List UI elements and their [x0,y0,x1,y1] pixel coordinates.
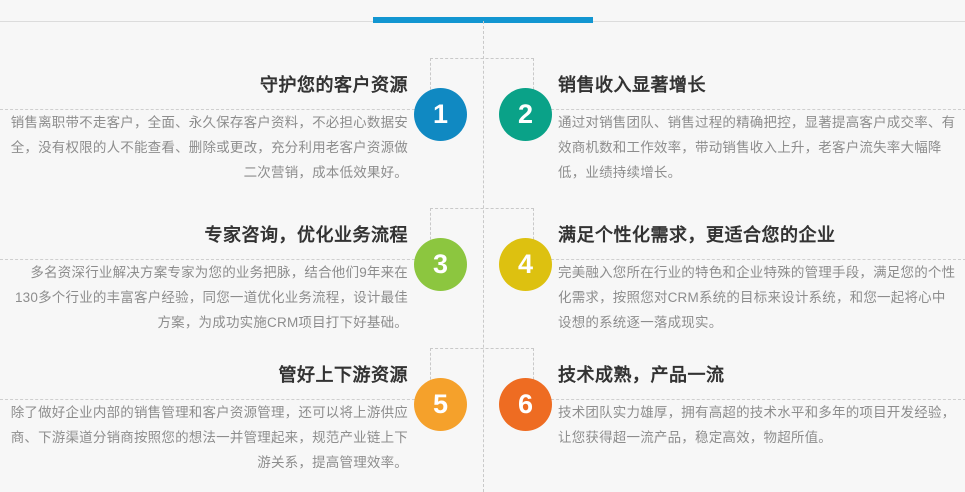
feature-description-5: 除了做好企业内部的销售管理和客户资源管理，还可以将上游供应商、下游渠道分销商按照… [8,400,408,475]
feature-description-4: 完美融入您所在行业的特色和企业特殊的管理手段，满足您的个性化需求，按照您对CRM… [558,260,958,335]
feature-card-2: 销售收入显著增长 通过对销售团队、销售过程的精确把控，显著提高客户成交率、有效商… [483,72,965,222]
feature-card-1: 守护您的客户资源 销售离职带不走客户，全面、永久保存客户资料，不必担心数据安全，… [0,72,483,222]
feature-card-3: 专家咨询，优化业务流程 多名资深行业解决方案专家为您的业务把脉，结合他们9年来在… [0,222,483,362]
feature-title-3: 专家咨询，优化业务流程 [8,222,408,248]
feature-divider-5 [0,399,425,400]
feature-divider-2 [541,109,965,110]
feature-description-1: 销售离职带不走客户，全面、永久保存客户资料，不必担心数据安全，没有权限的人不能查… [8,110,408,185]
feature-card-4: 满足个性化需求，更适合您的企业 完美融入您所在行业的特色和企业特殊的管理手段，满… [483,222,965,362]
feature-divider-1 [0,109,425,110]
feature-title-5: 管好上下游资源 [8,362,408,388]
feature-content-4: 满足个性化需求，更适合您的企业 完美融入您所在行业的特色和企业特殊的管理手段，满… [483,222,965,335]
feature-number-badge-4: 4 [499,238,552,291]
feature-title-2: 销售收入显著增长 [558,72,958,98]
feature-content-6: 技术成熟，产品一流 技术团队实力雄厚，拥有高超的技术水平和多年的项目开发经验，让… [483,362,965,450]
feature-number-badge-3: 3 [414,238,467,291]
feature-title-1: 守护您的客户资源 [8,72,408,98]
feature-divider-3 [0,259,425,260]
feature-divider-4 [541,259,965,260]
feature-content-5: 管好上下游资源 除了做好企业内部的销售管理和客户资源管理，还可以将上游供应商、下… [0,362,483,475]
feature-number-badge-5: 5 [414,378,467,431]
feature-content-2: 销售收入显著增长 通过对销售团队、销售过程的精确把控，显著提高客户成交率、有效商… [483,72,965,185]
feature-title-4: 满足个性化需求，更适合您的企业 [558,222,958,248]
feature-number-badge-1: 1 [414,88,467,141]
feature-number-badge-2: 2 [499,88,552,141]
feature-description-2: 通过对销售团队、销售过程的精确把控，显著提高客户成交率、有效商机数和工作效率，带… [558,110,958,185]
features-grid: 守护您的客户资源 销售离职带不走客户，全面、永久保存客户资料，不必担心数据安全，… [0,21,965,492]
feature-description-3: 多名资深行业解决方案专家为您的业务把脉，结合他们9年来在130多个行业的丰富客户… [8,260,408,335]
feature-divider-6 [541,399,965,400]
feature-content-3: 专家咨询，优化业务流程 多名资深行业解决方案专家为您的业务把脉，结合他们9年来在… [0,222,483,335]
feature-number-badge-6: 6 [499,378,552,431]
feature-description-6: 技术团队实力雄厚，拥有高超的技术水平和多年的项目开发经验，让您获得超一流产品，稳… [558,400,958,450]
feature-row-2: 专家咨询，优化业务流程 多名资深行业解决方案专家为您的业务把脉，结合他们9年来在… [0,222,965,362]
feature-title-6: 技术成熟，产品一流 [558,362,958,388]
feature-row-1: 守护您的客户资源 销售离职带不走客户，全面、永久保存客户资料，不必担心数据安全，… [0,72,965,222]
feature-row-3: 管好上下游资源 除了做好企业内部的销售管理和客户资源管理，还可以将上游供应商、下… [0,362,965,492]
feature-card-5: 管好上下游资源 除了做好企业内部的销售管理和客户资源管理，还可以将上游供应商、下… [0,362,483,492]
feature-card-6: 技术成熟，产品一流 技术团队实力雄厚，拥有高超的技术水平和多年的项目开发经验，让… [483,362,965,492]
feature-content-1: 守护您的客户资源 销售离职带不走客户，全面、永久保存客户资料，不必担心数据安全，… [0,72,483,185]
